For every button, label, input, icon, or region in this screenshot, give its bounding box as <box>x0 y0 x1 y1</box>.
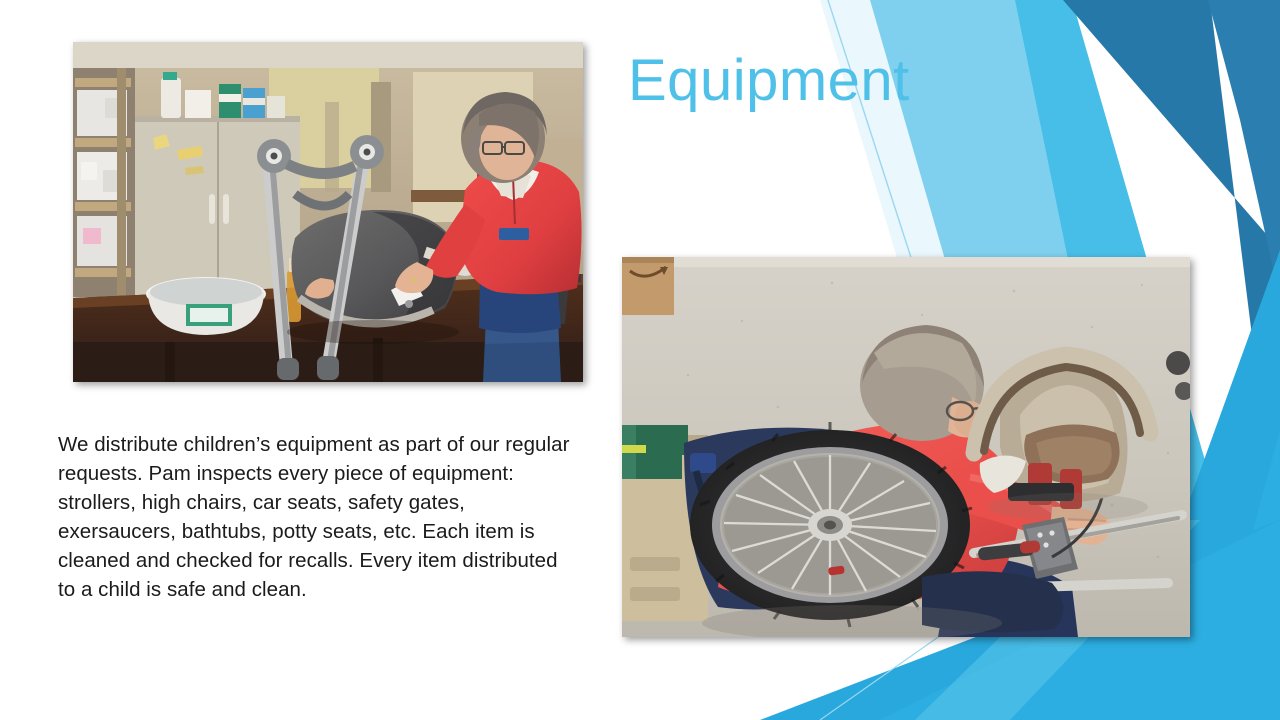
photo-pam-inspecting-stroller-image: Care Center Volunteer Staff <box>73 42 583 382</box>
slide-title: Equipment <box>628 52 1048 110</box>
slide-canvas: Equipment We distribute children’s equip… <box>0 0 1280 720</box>
photo-pam-checking-jogger-wheel-image <box>622 257 1190 637</box>
body-paragraph: We distribute children’s equipment as pa… <box>58 430 580 604</box>
photo-pam-checking-jogger-wheel[interactable] <box>622 257 1190 637</box>
photo-pam-inspecting-stroller[interactable]: Care Center Volunteer Staff <box>73 42 583 382</box>
